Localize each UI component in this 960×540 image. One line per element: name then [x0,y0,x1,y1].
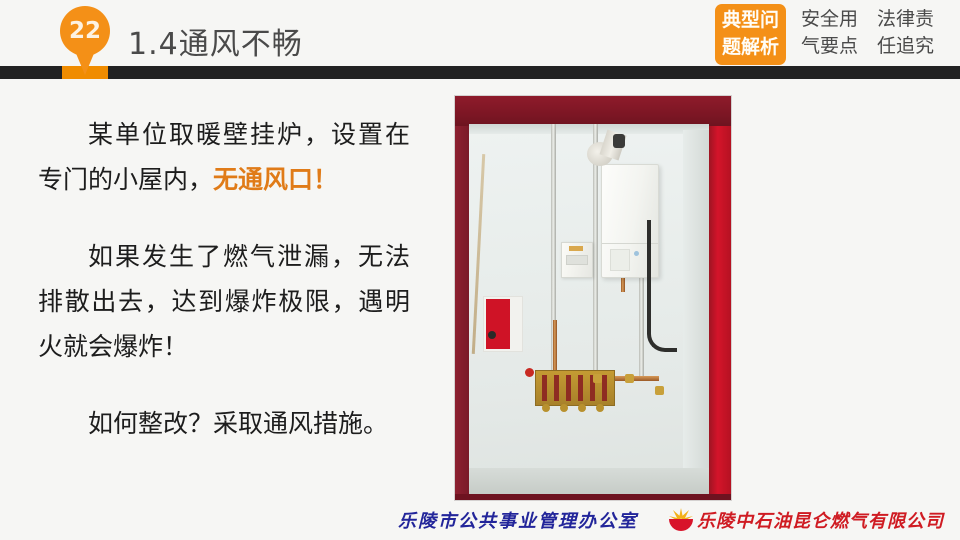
pipe-valve [593,374,602,383]
petrochina-logo-icon [668,508,694,532]
boiler-indicator-lamp [634,251,639,256]
section-nav: 典型问 题解析 安全用 气要点 法律责 任追究 [715,4,938,66]
nav-item-safety-points[interactable]: 安全用 气要点 [797,4,862,61]
page-number: 22 [60,6,110,56]
manifold-rib [542,375,547,401]
petrochina-logo-base [669,519,693,531]
manifold-rib [554,375,559,401]
boiler-control-panel [610,249,630,271]
footer-company-name: 乐陵中石油昆仑燃气有限公司 [697,507,944,533]
red-knob-valve [525,368,534,377]
gas-meter-dial [566,255,588,265]
brass-manifold [535,370,615,406]
nav-item-line1: 典型问 [722,7,779,34]
footer-office-name: 乐陵市公共事业管理办公室 [398,507,638,533]
header-dark-bar [0,66,960,79]
door-frame-top [455,96,731,126]
nav-item-line2: 气要点 [801,33,858,60]
door-frame-left [455,96,469,500]
page-title: 1.4通风不畅 [128,19,303,63]
nav-item-typical-problems[interactable]: 典型问 题解析 [715,4,786,65]
gas-meter [561,242,593,278]
gas-meter-tag [569,246,583,251]
paragraph-1-highlight: 无通风口！ [213,165,338,194]
room-right-wall [683,130,709,494]
pipe-valve [625,374,634,383]
door-frame-bottom [455,494,731,500]
nav-item-line1: 安全用 [801,6,858,33]
flue-pipe [587,132,621,166]
black-hose [647,220,677,352]
room-floor [469,468,709,494]
flue-shadow [613,134,625,148]
poster-dot [488,331,496,339]
paragraph-3: 如何整改？采取通风措施。 [38,401,410,446]
door-frame-right [709,96,731,500]
pipe-valve [655,386,664,395]
manifold-rib [566,375,571,401]
wall-poster [483,296,523,352]
manifold-rib [602,375,607,401]
poster-red-area [486,299,510,349]
slide-footer: 乐陵市公共事业管理办公室 乐陵中石油昆仑燃气有限公司 [0,504,960,536]
slide-canvas: 22 1.4通风不畅 典型问 题解析 安全用 气要点 法律责 任追究 某单位取暖… [0,0,960,540]
footer-company: 乐陵中石油昆仑燃气有限公司 [668,507,944,533]
page-number-pin: 22 [60,6,110,74]
nav-item-legal-liability[interactable]: 法律责 任追究 [873,4,938,61]
nav-item-line1: 法律责 [877,6,934,33]
paragraph-1: 某单位取暖壁挂炉，设置在专门的小屋内，无通风口！ [38,112,410,202]
slide-header: 22 1.4通风不畅 典型问 题解析 安全用 气要点 法律责 任追究 [0,0,960,78]
paragraph-2: 如果发生了燃气泄漏，无法排散出去，达到爆炸极限，遇明火就会爆炸！ [38,234,410,369]
manifold-cap [596,404,604,412]
boiler-room-photo [455,96,731,500]
nav-item-line2: 任追究 [877,33,934,60]
manifold-cap [560,404,568,412]
room-interior [469,124,709,494]
manifold-cap [542,404,550,412]
manifold-cap [578,404,586,412]
nav-item-line2: 题解析 [722,34,779,61]
slide-body-text: 某单位取暖壁挂炉，设置在专门的小屋内，无通风口！ 如果发生了燃气泄漏，无法排散出… [38,112,410,446]
manifold-rib [578,375,583,401]
